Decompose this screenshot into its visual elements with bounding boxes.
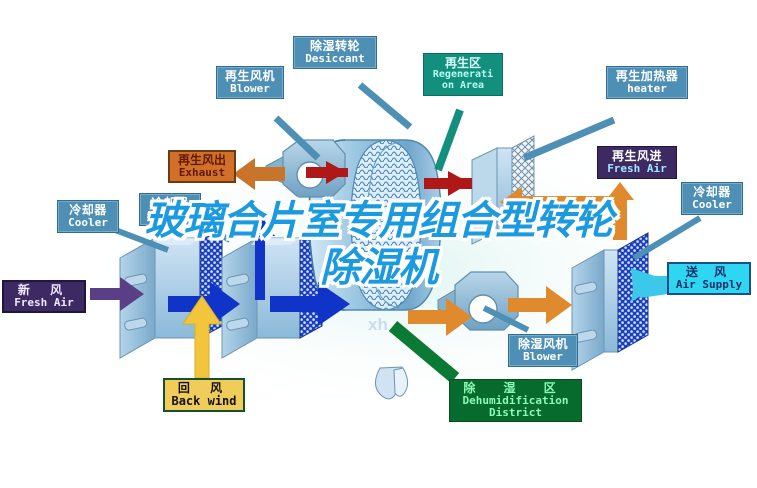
label-regeneration-fresh-air-cn: 再生风进 — [602, 150, 672, 163]
label-back-wind-en: Back wind — [168, 395, 240, 408]
label-air-supply-cn: 送 风 — [672, 266, 746, 279]
label-fresh-air-en: Fresh Air — [7, 297, 81, 309]
svg-text:xh: xh — [368, 315, 388, 334]
label-air-supply-en: Air Supply — [672, 279, 746, 291]
label-exhaust-cn: 再生风出 — [173, 154, 231, 167]
label-dehumidification-blower-en: Blower — [513, 351, 573, 363]
label-regeneration-area[interactable]: 再生区 Regenerati on Area — [423, 53, 503, 96]
label-back-wind-cn: 回 风 — [168, 382, 240, 395]
label-desiccant-rotor-en: Desiccant — [298, 53, 372, 65]
label-desiccant-rotor[interactable]: 除湿转轮 Desiccant — [293, 36, 377, 69]
label-exhaust-en: Exhaust — [173, 167, 231, 179]
label-cooler-mid[interactable]: 冷却器 Cooler — [139, 193, 201, 226]
label-regeneration-fresh-air[interactable]: 再生风进 Fresh Air — [597, 146, 677, 179]
label-regeneration-heater[interactable]: 再生加热器 heater — [606, 66, 688, 99]
label-cooler-mid-en: Cooler — [144, 210, 196, 222]
dehumidifier-diagram: xh — [0, 0, 757, 488]
label-cooler-mid-cn: 冷却器 — [144, 197, 196, 210]
label-cooler-left[interactable]: 冷却器 Cooler — [57, 200, 119, 233]
label-regeneration-area-en-2: on Area — [428, 81, 498, 92]
label-exhaust[interactable]: 再生风出 Exhaust — [168, 150, 236, 183]
label-regeneration-blower[interactable]: 再生风机 Blower — [216, 66, 284, 99]
label-desiccant-rotor-cn: 除湿转轮 — [298, 40, 372, 53]
label-air-supply[interactable]: 送 风 Air Supply — [667, 262, 751, 295]
label-regeneration-blower-en: Blower — [221, 83, 279, 95]
label-regeneration-blower-cn: 再生风机 — [221, 70, 279, 83]
label-dehumidification-district-cn: 除 湿 区 — [453, 382, 578, 395]
label-dehumidification-blower-cn: 除湿风机 — [513, 338, 573, 351]
label-back-wind[interactable]: 回 风 Back wind — [163, 378, 245, 412]
label-cooler-left-en: Cooler — [62, 217, 114, 229]
label-cooler-right[interactable]: 冷却器 Cooler — [681, 182, 743, 215]
label-regeneration-heater-en: heater — [611, 83, 683, 95]
label-fresh-air[interactable]: 新 风 Fresh Air — [2, 280, 86, 313]
label-dehumidification-blower[interactable]: 除湿风机 Blower — [508, 334, 578, 367]
label-regeneration-area-cn: 再生区 — [428, 57, 498, 70]
label-dehumidification-district[interactable]: 除 湿 区 Dehumidification District — [449, 379, 582, 422]
label-cooler-right-en: Cooler — [686, 199, 738, 211]
label-regeneration-fresh-air-en: Fresh Air — [602, 163, 672, 175]
label-regeneration-heater-cn: 再生加热器 — [611, 70, 683, 83]
label-dehumidification-district-en-2: District — [453, 407, 578, 419]
label-cooler-right-cn: 冷却器 — [686, 186, 738, 199]
label-fresh-air-cn: 新 风 — [7, 284, 81, 297]
label-cooler-left-cn: 冷却器 — [62, 204, 114, 217]
